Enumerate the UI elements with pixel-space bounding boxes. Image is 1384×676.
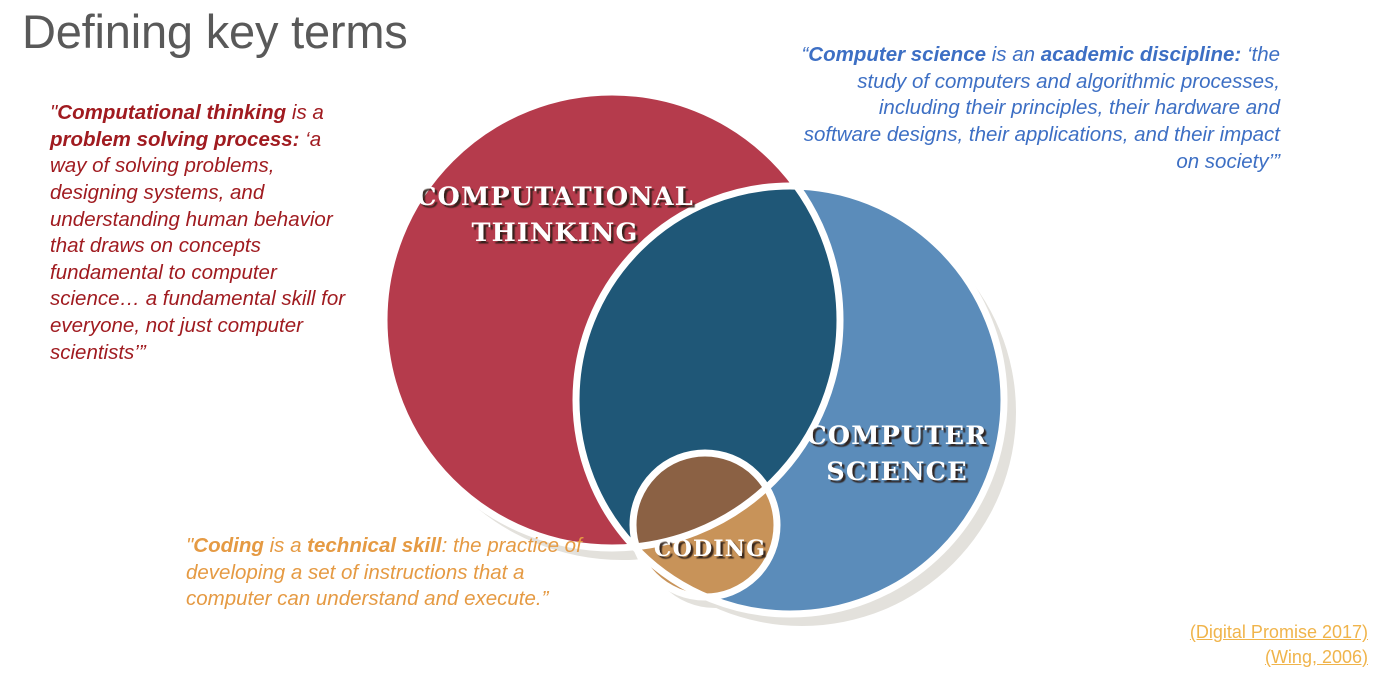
label-coding: CODING — [654, 536, 766, 562]
quote-ct-term: Computational thinking — [57, 101, 286, 124]
quote-cs-term: Computer science — [808, 43, 986, 66]
citations: (Digital Promise 2017) (Wing, 2006) — [1190, 620, 1368, 670]
page-title: Defining key terms — [22, 4, 408, 59]
quote-coding-term: Coding — [193, 534, 264, 557]
label-cs-line1: COMPUTER — [806, 421, 987, 451]
quote-ct-mid: is a — [286, 101, 324, 124]
quote-ct-body: ‘a way of solving problems, designing sy… — [50, 128, 345, 364]
label-cs-line2: SCIENCE — [826, 457, 968, 487]
quote-coding: "Coding is a technical skill: the practi… — [186, 533, 606, 613]
quote-coding-mid: is a — [264, 534, 307, 557]
quote-ct-phrase: problem solving process: — [50, 128, 299, 151]
quote-cs-phrase: academic discipline: — [1041, 43, 1242, 66]
label-ct-line2: THINKING — [471, 218, 638, 248]
label-ct-line1: COMPUTATIONAL — [416, 182, 694, 212]
quote-computational-thinking: "Computational thinking is a problem sol… — [50, 100, 350, 366]
quote-computer-science: “Computer science is an academic discipl… — [800, 42, 1280, 175]
quote-coding-phrase: technical skill — [307, 534, 441, 557]
citation-link-digital-promise[interactable]: (Digital Promise 2017) — [1190, 620, 1368, 645]
slide-canvas: Defining key terms — [0, 0, 1384, 676]
quote-cs-mid: is an — [986, 43, 1041, 66]
label-coding-line1: CODING — [654, 536, 766, 562]
citation-link-wing[interactable]: (Wing, 2006) — [1190, 645, 1368, 670]
